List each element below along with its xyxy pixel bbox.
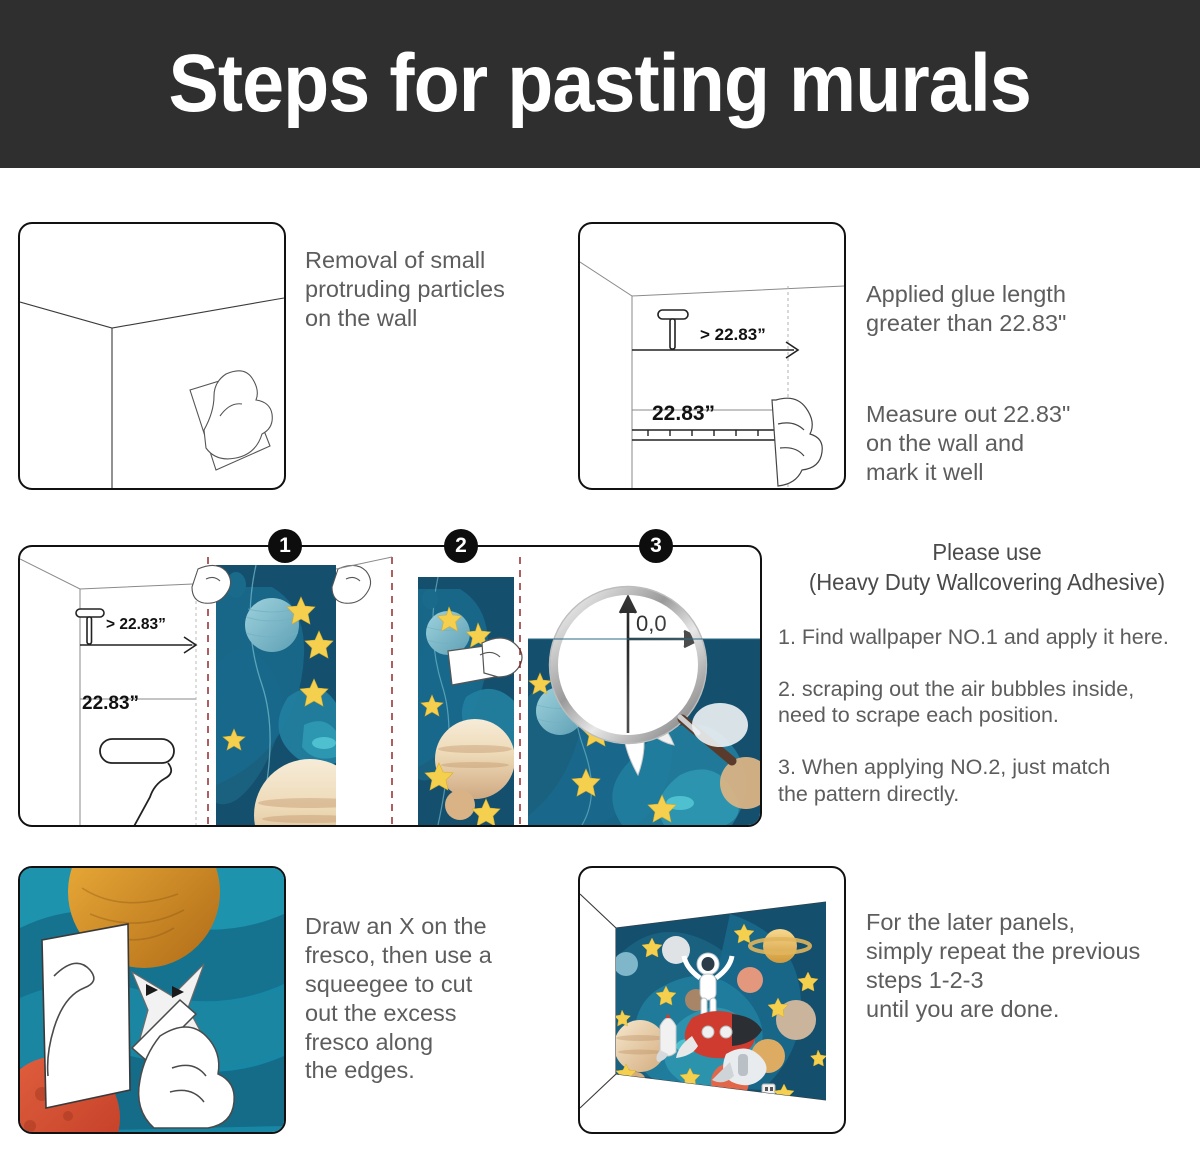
room-corner-scraper-illustration: [20, 224, 284, 488]
caption-repeat-steps: For the later panels, simply repeat the …: [866, 908, 1196, 1024]
panel-cut-excess-fresco: [18, 866, 286, 1134]
adhesive-heading-line1: Please use: [786, 538, 1187, 568]
middle-instruction-2: 2. scraping out the air bubbles inside, …: [778, 676, 1196, 728]
svg-text:22.83”: 22.83”: [652, 402, 715, 425]
svg-text:22.83”: 22.83”: [82, 693, 139, 714]
caption-measure-on-wall: Measure out 22.83" on the wall and mark …: [866, 400, 1186, 487]
three-step-illustration: > 22.83” 22.83”: [20, 547, 760, 825]
panel-finished-mural: [578, 866, 846, 1134]
panel-three-step-strip: > 22.83” 22.83”: [18, 545, 762, 827]
adhesive-heading-line2: (Heavy Duty Wallcovering Adhesive): [786, 568, 1187, 598]
finished-space-mural-illustration: [580, 868, 844, 1132]
page-header: Steps for pasting murals: [0, 0, 1200, 168]
caption-applied-glue-length: Applied glue length greater than 22.83": [866, 280, 1186, 338]
panel-glue-and-measure: > 22.83” 22.83”: [578, 222, 846, 490]
cut-x-squeegee-illustration: [20, 868, 284, 1132]
glue-measure-illustration: > 22.83” 22.83”: [580, 224, 844, 488]
step-badge-3: 3: [639, 529, 673, 563]
step-badge-1: 1: [268, 529, 302, 563]
middle-instructions-block: Please use (Heavy Duty Wallcovering Adhe…: [778, 538, 1196, 807]
svg-text:> 22.83”: > 22.83”: [700, 325, 766, 344]
step-badge-2: 2: [444, 529, 478, 563]
caption-wall-preparation: Removal of small protruding particles on…: [305, 246, 555, 333]
panel-wall-preparation: [18, 222, 286, 490]
caption-cut-excess-fresco: Draw an X on the fresco, then use a sque…: [305, 912, 555, 1085]
svg-text:> 22.83”: > 22.83”: [106, 616, 166, 633]
page-title: Steps for pasting murals: [169, 43, 1031, 125]
middle-instruction-1: 1. Find wallpaper NO.1 and apply it here…: [778, 624, 1196, 650]
middle-instruction-3: 3. When applying NO.2, just match the pa…: [778, 754, 1196, 806]
